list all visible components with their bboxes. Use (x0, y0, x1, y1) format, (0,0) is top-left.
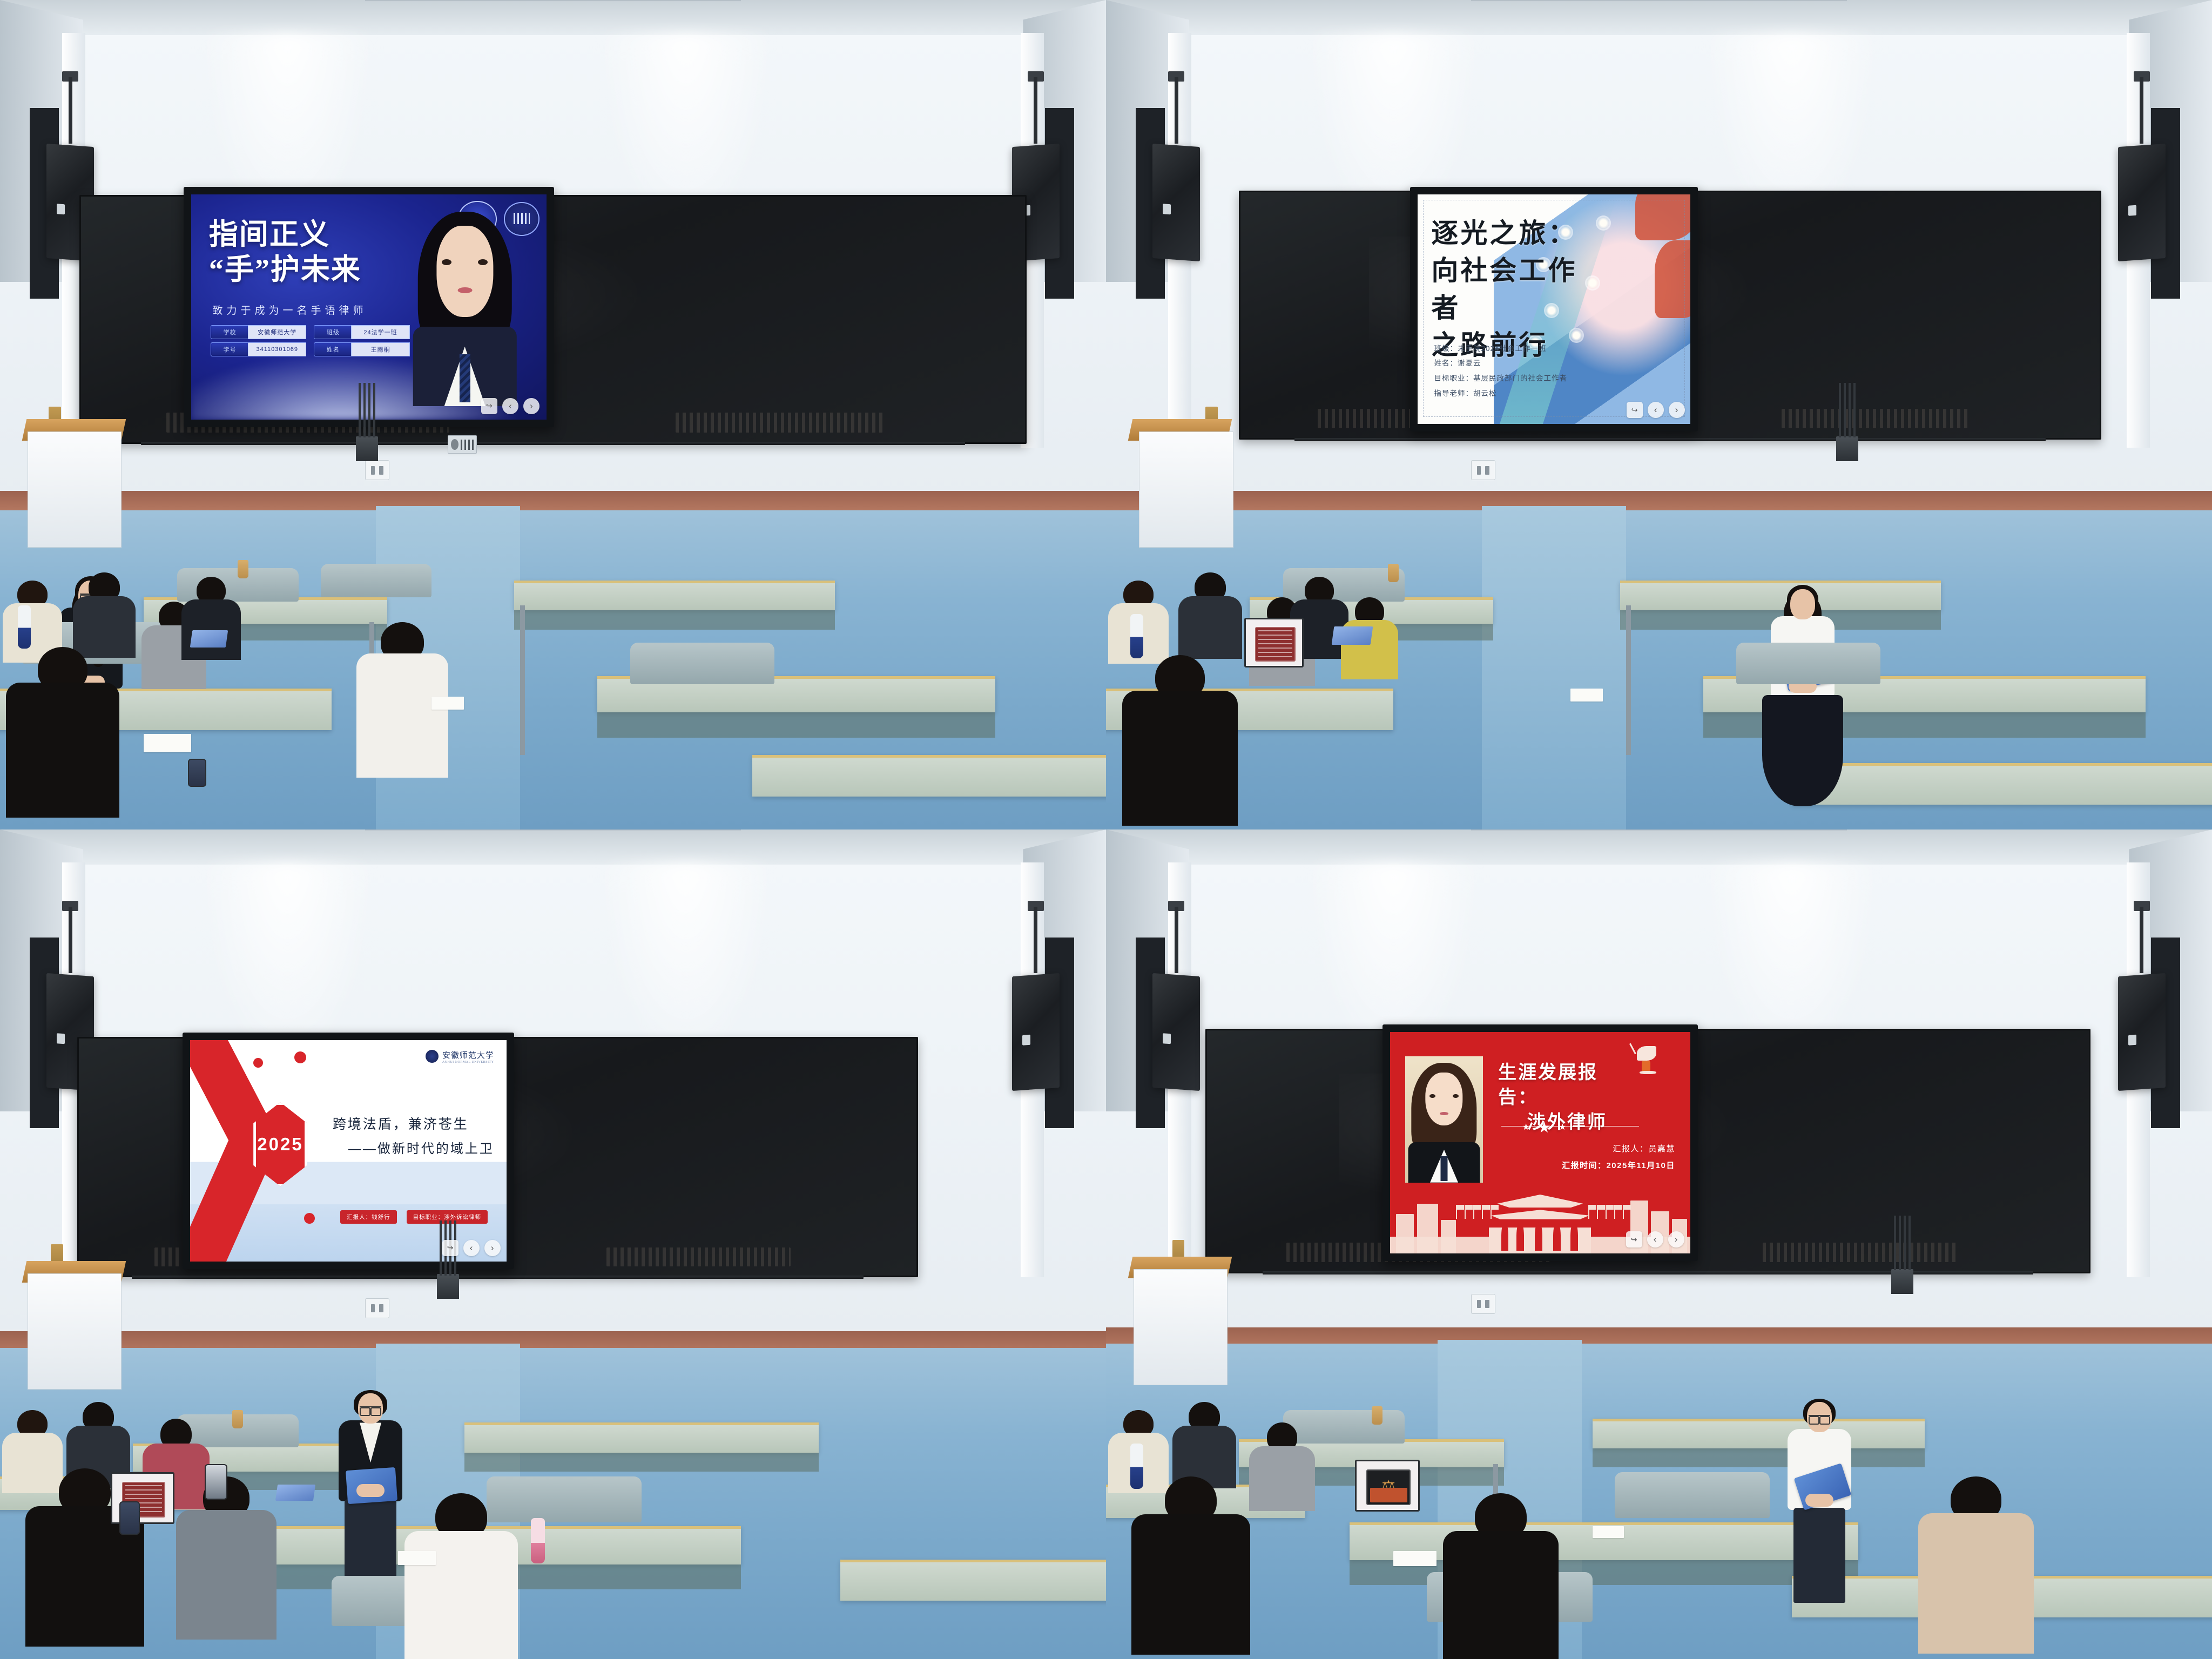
attendee (1299, 577, 1339, 658)
chair-back (487, 1476, 642, 1522)
chair-back (630, 643, 774, 684)
tiananmen-gate-icon (1489, 1195, 1591, 1253)
blue-folder[interactable] (190, 630, 228, 648)
wall-socket[interactable] (1471, 1294, 1495, 1314)
ceiling-speaker-right (2118, 973, 2166, 1091)
prev-slide-icon[interactable]: ‹ (1648, 402, 1664, 418)
laptop[interactable] (1355, 1460, 1420, 1512)
smartphone[interactable] (188, 759, 206, 787)
field-school: 学校 安徽师范大学 (211, 325, 306, 339)
notebook[interactable] (398, 1551, 436, 1565)
slide-meta: 汇报人：员嘉慧 汇报时间：2025年11月10日 (1562, 1141, 1675, 1175)
notebook[interactable] (1393, 1551, 1437, 1566)
reporter-badge: 汇报人：钱舒行 (340, 1210, 397, 1224)
water-bottle[interactable] (1130, 1444, 1143, 1489)
slide-info-fields: 学校 安徽师范大学 班级 24法学一班 学号 34110301069 姓名 (211, 325, 410, 356)
paper-cup[interactable] (238, 560, 248, 578)
attendee (1161, 1476, 1220, 1611)
prev-slide-icon[interactable]: ‹ (1647, 1231, 1663, 1247)
interactive-smartboard[interactable]: 2025 安徽师范大学 ANHUI NORMAL UNIVERSITY 跨境法盾… (183, 1033, 514, 1269)
ceiling-speaker-left (1152, 973, 1200, 1091)
chair-back (321, 564, 431, 597)
next-slide-icon[interactable]: › (484, 1240, 501, 1256)
smartphone-camera[interactable] (205, 1464, 227, 1500)
slide-title: 生涯发展报告： 涉外律师 (1498, 1061, 1636, 1135)
notebook[interactable] (1570, 689, 1603, 702)
wall-socket[interactable] (1471, 460, 1495, 480)
attendee (1946, 1476, 2006, 1611)
control-panel[interactable] (448, 435, 476, 454)
pointer-holder (437, 1274, 459, 1299)
attendee (83, 572, 125, 653)
laptop[interactable] (1244, 618, 1304, 667)
ceiling-speaker-right (2118, 144, 2166, 261)
attendee (431, 1493, 491, 1628)
next-slide-icon[interactable]: › (1669, 402, 1685, 418)
share-icon[interactable]: ↪ (442, 1240, 458, 1256)
attendee (1261, 1422, 1303, 1503)
prev-slide-icon[interactable]: ‹ (463, 1240, 480, 1256)
slide-meta: 班级：未手院2024社会工作一班 姓名：谢夏云 目标职业：基层民政部门的社会工作… (1434, 341, 1624, 401)
panel-top-left[interactable]: 指间正义 “手”护未来 致力于成为一名手语律师 学校 安徽师范大学 班级 24法… (0, 0, 1106, 829)
water-bottle[interactable] (531, 1518, 545, 1563)
share-icon[interactable]: ↪ (1626, 1231, 1642, 1247)
pointer-holder (356, 436, 378, 461)
slide-nav[interactable]: ↪ ‹ › (481, 398, 539, 414)
smartphone[interactable] (119, 1501, 140, 1535)
slide-nav[interactable]: ↪ ‹ › (1626, 1231, 1684, 1247)
glasses-icon (1809, 1415, 1830, 1421)
slide-badges: 汇报人：钱舒行 目标职业：涉外诉讼律师 (340, 1210, 488, 1224)
field-student-id: 学号 34110301069 (211, 342, 306, 356)
desk-row (1593, 1419, 1924, 1448)
slide-portrait (1405, 1056, 1483, 1183)
slide-canvas: 生涯发展报告： 涉外律师 ★★★ 汇报人：员嘉慧 汇报时间：2025年11月10… (1390, 1032, 1690, 1253)
attendee (1150, 655, 1210, 785)
blue-folder[interactable] (1331, 626, 1373, 645)
desk-row (1792, 763, 2212, 805)
wall-socket[interactable] (365, 460, 389, 480)
slide-canvas: 逐光之旅： 向社会工作者 之路前行 班级：未手院2024社会工作一班 姓名：谢夏… (1418, 194, 1690, 424)
prev-slide-icon[interactable]: ‹ (502, 398, 518, 414)
next-slide-icon[interactable]: › (1668, 1231, 1684, 1247)
attendee (1471, 1493, 1530, 1628)
panel-top-right[interactable]: 逐光之旅： 向社会工作者 之路前行 班级：未手院2024社会工作一班 姓名：谢夏… (1106, 0, 2212, 829)
attendee (33, 647, 92, 777)
interactive-smartboard[interactable]: 逐光之旅： 向社会工作者 之路前行 班级：未手院2024社会工作一班 姓名：谢夏… (1410, 187, 1697, 431)
notebook[interactable] (431, 697, 464, 710)
notebook[interactable] (144, 734, 191, 752)
ribbon-dancer-icon (1630, 1043, 1673, 1083)
paper-cup[interactable] (1372, 1406, 1382, 1425)
university-logo: 安徽师范大学 ANHUI NORMAL UNIVERSITY (426, 1049, 494, 1064)
panel-bottom-right[interactable]: 生涯发展报告： 涉外律师 ★★★ 汇报人：员嘉慧 汇报时间：2025年11月10… (1106, 829, 2212, 1659)
attendee (1189, 572, 1231, 653)
podium (28, 1273, 122, 1390)
paper-cup[interactable] (1388, 564, 1399, 582)
slide-headline: 跨境法盾，兼济苍生 (333, 1114, 491, 1133)
paper-cup[interactable] (232, 1410, 243, 1428)
chair-back (1615, 1472, 1770, 1518)
slide-portrait (404, 208, 525, 406)
slide-subtitle: 致力于成为一名手语律师 (212, 302, 397, 317)
pointer-holder (1891, 1269, 1913, 1294)
next-slide-icon[interactable]: › (523, 398, 539, 414)
attendee (1183, 1402, 1225, 1483)
wall-socket[interactable] (365, 1298, 389, 1318)
blue-folder[interactable] (275, 1485, 315, 1501)
water-bottle[interactable] (1130, 614, 1143, 658)
field-class: 班级 24法学一班 (314, 325, 409, 339)
desk-row (752, 755, 1106, 797)
podium (1134, 1269, 1228, 1385)
ceiling-speaker-right (1012, 973, 1060, 1091)
chair-back (1736, 643, 1880, 684)
water-bottle[interactable] (18, 605, 31, 649)
desk-row (1620, 581, 1941, 610)
ceiling (0, 0, 1106, 37)
slide-subheadline: ——做新时代的域上卫 (329, 1138, 494, 1157)
share-icon[interactable]: ↪ (481, 398, 497, 414)
panel-bottom-left[interactable]: 2025 安徽师范大学 ANHUI NORMAL UNIVERSITY 跨境法盾… (0, 829, 1106, 1659)
pointer-holder (1836, 436, 1858, 461)
podium (28, 431, 122, 548)
share-icon[interactable]: ↪ (1627, 402, 1643, 418)
interactive-smartboard[interactable]: 生涯发展报告： 涉外律师 ★★★ 汇报人：员嘉慧 汇报时间：2025年11月10… (1382, 1024, 1698, 1261)
notebook[interactable] (1593, 1526, 1624, 1538)
slide-nav[interactable]: ↪ ‹ › (442, 1240, 501, 1256)
podium (1139, 431, 1233, 548)
slide-nav[interactable]: ↪ ‹ › (1627, 402, 1685, 418)
glasses-icon (360, 1406, 381, 1413)
ceiling-speaker-left (1152, 144, 1200, 261)
stars-decoration: ★★★ (1522, 1118, 1566, 1136)
desk-row (840, 1560, 1106, 1601)
slide-canvas: 2025 安徽师范大学 ANHUI NORMAL UNIVERSITY 跨境法盾… (190, 1040, 507, 1262)
field-name: 姓名 王雨桐 (314, 342, 409, 356)
composite-grid: 指间正义 “手”护未来 致力于成为一名手语律师 学校 安徽师范大学 班级 24法… (0, 0, 2212, 1659)
attendee (11, 1410, 54, 1491)
attendee (55, 1468, 114, 1603)
desk-row (514, 581, 835, 610)
attendee (376, 622, 429, 741)
desk-row (464, 1422, 818, 1452)
slide-title: 指间正义 “手”护未来 (209, 219, 394, 287)
